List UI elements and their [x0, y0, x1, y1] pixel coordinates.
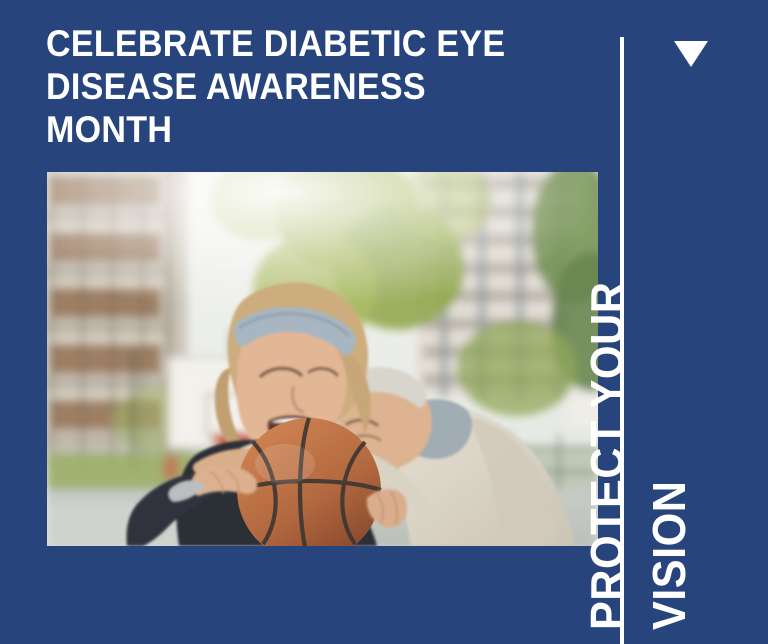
triangle-down-icon [674, 41, 708, 67]
side-rail-line-1: PROTECT YOUR [584, 282, 630, 630]
poster-canvas: CELEBRATE DIABETIC EYE DISEASE AWARENESS… [0, 0, 768, 644]
hero-photo-illustration [47, 172, 598, 546]
hero-photo [47, 172, 598, 546]
page-title: CELEBRATE DIABETIC EYE DISEASE AWARENESS… [46, 22, 543, 151]
side-rail-line-2: VISION [646, 481, 692, 630]
